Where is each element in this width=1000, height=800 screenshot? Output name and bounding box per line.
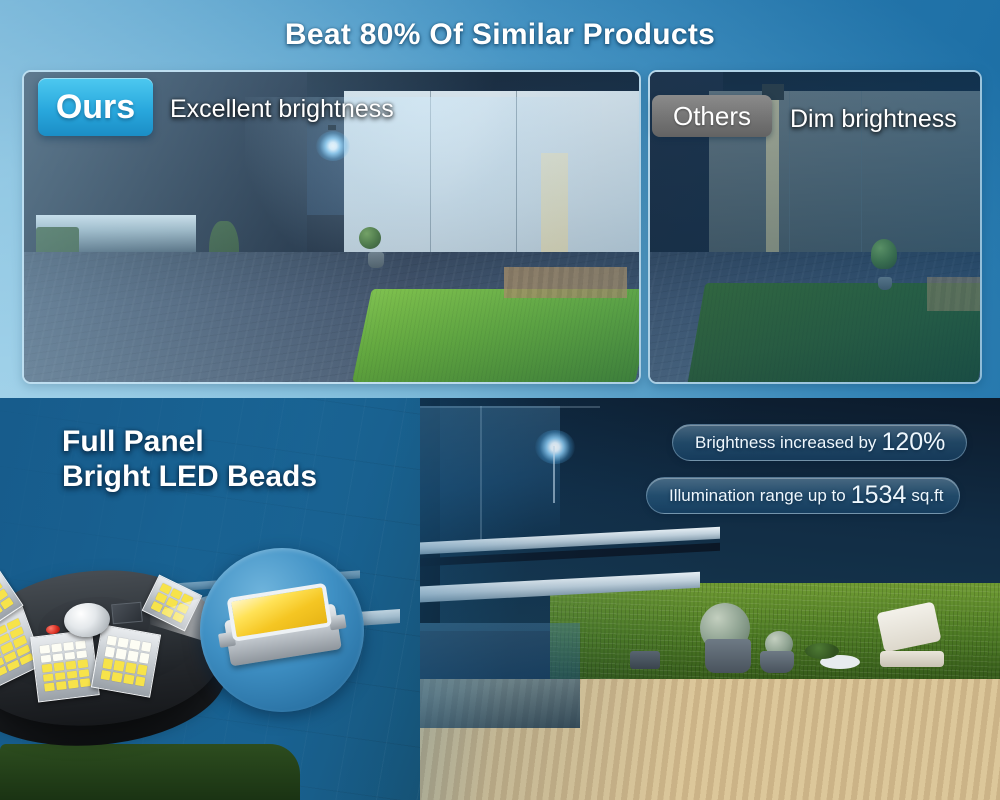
shrub-dim (871, 239, 897, 269)
pill-brightness-value: 120% (881, 428, 945, 457)
feature-title-line2: Bright LED Beads (62, 459, 317, 494)
led-bead (54, 662, 65, 671)
pill-range-suffix: sq.ft (911, 486, 943, 506)
badge-others: Others (652, 95, 772, 137)
planter-dim (878, 277, 892, 290)
led-bead (125, 662, 136, 673)
led-bead (114, 660, 125, 671)
led-panel-right (91, 624, 161, 697)
pill-brightness-prefix: Brightness increased by (695, 433, 876, 453)
deck-bench (504, 267, 627, 298)
led-bead (63, 642, 74, 651)
led-bead (42, 664, 53, 673)
led-bead (68, 680, 79, 689)
pill-illumination-range: Illumination range up to 1534 sq.ft (646, 477, 960, 514)
led-bead (129, 639, 140, 650)
led-bead (51, 643, 62, 652)
wall-lamp-fixture (328, 125, 336, 130)
deck-bench-dim (927, 277, 980, 311)
led-bead (141, 641, 152, 652)
led-bead (123, 674, 134, 685)
solar-chip-icon (111, 602, 143, 625)
led-bead (127, 651, 138, 662)
led-bead (118, 637, 129, 648)
bead-grid-center (40, 640, 91, 691)
badge-ours: Ours (38, 78, 153, 136)
led-bead (104, 647, 115, 658)
led-bead (79, 669, 90, 678)
led-bead (76, 650, 87, 659)
feature-title: Full Panel Bright LED Beads (62, 424, 317, 494)
led-bead (138, 653, 149, 664)
shrub-bright (359, 227, 381, 249)
led-bead (43, 673, 54, 682)
led-bead (44, 683, 55, 692)
pill-range-prefix: Illumination range up to (669, 486, 846, 506)
planter-small (368, 252, 384, 268)
caption-others: Dim brightness (790, 105, 957, 134)
led-bead (112, 672, 123, 683)
led-bead (106, 635, 117, 646)
led-panel-center (30, 629, 100, 702)
led-bead (66, 661, 77, 670)
led-bead (40, 645, 51, 654)
led-bead (100, 670, 111, 681)
feature-title-line1: Full Panel (62, 424, 317, 459)
led-bead (77, 659, 88, 668)
page-headline: Beat 80% Of Similar Products (0, 18, 1000, 52)
wall-lamp-glow (316, 131, 350, 161)
led-bead (134, 676, 145, 687)
led-bead (136, 664, 147, 675)
caption-ours: Excellent brightness (170, 95, 394, 124)
lawn-bright (352, 289, 639, 382)
feature-section: Full Panel Bright LED Beads Brightness i… (0, 398, 1000, 800)
product-marketing-image: Beat 80% Of Similar Products (0, 0, 1000, 800)
led-bead (0, 665, 7, 677)
comparison-section: Beat 80% Of Similar Products (0, 0, 1000, 398)
led-bead (53, 653, 64, 662)
led-bead-closeup-circle (200, 548, 364, 712)
led-bead (102, 658, 113, 669)
led-bead (55, 672, 66, 681)
pill-brightness-increase: Brightness increased by 120% (672, 424, 967, 461)
led-bead (67, 670, 78, 679)
led-bead (56, 681, 67, 690)
bead-grid-right (100, 635, 151, 687)
pill-range-value: 1534 (851, 481, 907, 510)
bead-grid-left (0, 618, 34, 677)
led-bead (80, 679, 91, 688)
led-bead (41, 654, 52, 663)
led-bead (116, 649, 127, 660)
smd-led-chip (221, 582, 344, 677)
led-bead (75, 640, 86, 649)
led-bead (64, 651, 75, 660)
